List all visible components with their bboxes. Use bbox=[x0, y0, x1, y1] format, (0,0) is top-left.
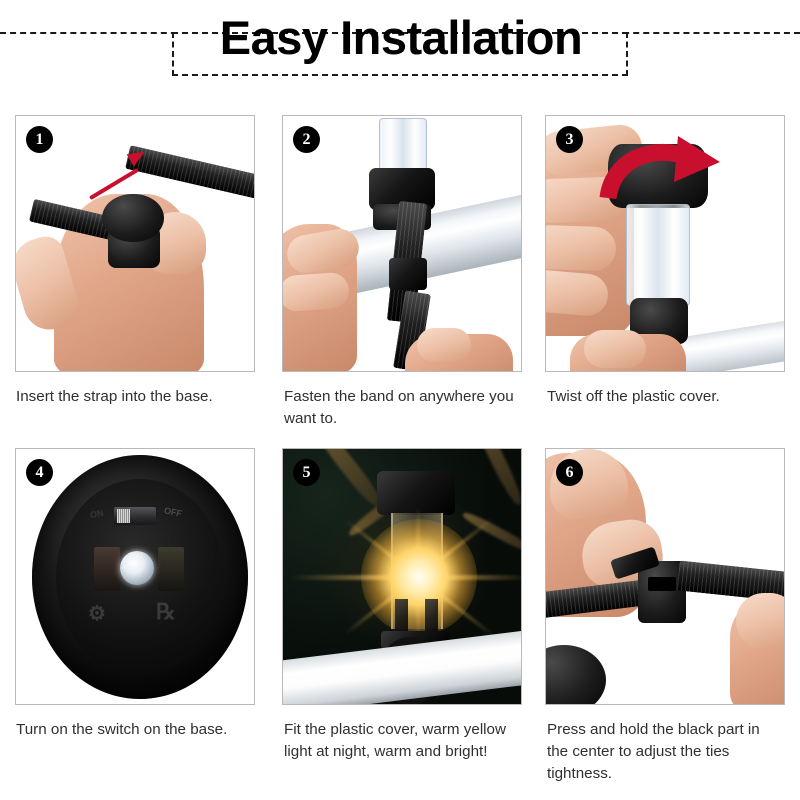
scene-base-underside: OFF ON ⚙ ℞ bbox=[16, 449, 254, 704]
emboss-mark-right: ℞ bbox=[156, 599, 176, 625]
led-center bbox=[120, 551, 154, 585]
buckle-slot bbox=[648, 577, 676, 591]
light-glow bbox=[361, 519, 477, 635]
step-badge-1: 1 bbox=[26, 126, 53, 153]
branch-1 bbox=[313, 449, 385, 510]
scene-band-on-pipe bbox=[283, 116, 521, 371]
step-image-2: 2 bbox=[282, 115, 522, 372]
battery-slot-left bbox=[94, 547, 120, 591]
scene-twist-off-cover bbox=[546, 116, 784, 371]
step-panel-6[interactable]: 6 bbox=[545, 448, 785, 705]
step-caption-4: Turn on the switch on the base. bbox=[16, 719, 256, 741]
finger-3 bbox=[546, 224, 617, 271]
scene-night-lamp bbox=[283, 449, 521, 704]
step-caption-5: Fit the plastic cover, warm yellow light… bbox=[284, 719, 524, 763]
strap-buckle bbox=[389, 258, 427, 290]
step-badge-3: 3 bbox=[556, 126, 583, 153]
fingertip-right bbox=[417, 328, 471, 362]
switch-nub[interactable] bbox=[117, 509, 130, 523]
scene-adjust-tie bbox=[546, 449, 784, 704]
finger-middle bbox=[283, 272, 350, 313]
step-image-1: 1 bbox=[15, 115, 255, 372]
step-panel-4[interactable]: OFF ON ⚙ ℞ 4 bbox=[15, 448, 255, 705]
base-object bbox=[546, 645, 606, 704]
clear-tube bbox=[626, 204, 690, 306]
step-badge-4: 4 bbox=[26, 459, 53, 486]
step-badge-5: 5 bbox=[293, 459, 320, 486]
base-knob bbox=[102, 194, 164, 242]
rotation-arrow-icon bbox=[598, 136, 728, 214]
step-badge-6: 6 bbox=[556, 459, 583, 486]
step-caption-1: Insert the strap into the base. bbox=[16, 386, 256, 408]
emboss-mark-left: ⚙ bbox=[88, 601, 106, 626]
fingertip-right bbox=[736, 593, 784, 649]
step-panel-3[interactable]: 3 bbox=[545, 115, 785, 372]
step-caption-6: Press and hold the black part in the cen… bbox=[547, 719, 785, 785]
step-image-4: OFF ON ⚙ ℞ 4 bbox=[15, 448, 255, 705]
step-caption-2: Fasten the band on anywhere you want to. bbox=[284, 386, 516, 430]
step-image-5: 5 bbox=[282, 448, 522, 705]
step-badge-2: 2 bbox=[293, 126, 320, 153]
installation-infographic: Easy Installation bbox=[0, 0, 800, 800]
step-panel-5[interactable]: 5 bbox=[282, 448, 522, 705]
step-caption-3: Twist off the plastic cover. bbox=[547, 386, 783, 408]
thumb-bottom bbox=[584, 330, 646, 368]
scene-hand-strap-base bbox=[16, 116, 254, 371]
step-panel-2[interactable]: 2 bbox=[282, 115, 522, 372]
step-panel-1[interactable]: 1 bbox=[15, 115, 255, 372]
branch-2 bbox=[460, 449, 521, 507]
step-image-6: 6 bbox=[545, 448, 785, 705]
steps-grid: 1 Insert the strap into the base. bbox=[0, 0, 800, 800]
step-image-3: 3 bbox=[545, 115, 785, 372]
battery-slot-right bbox=[158, 547, 184, 591]
